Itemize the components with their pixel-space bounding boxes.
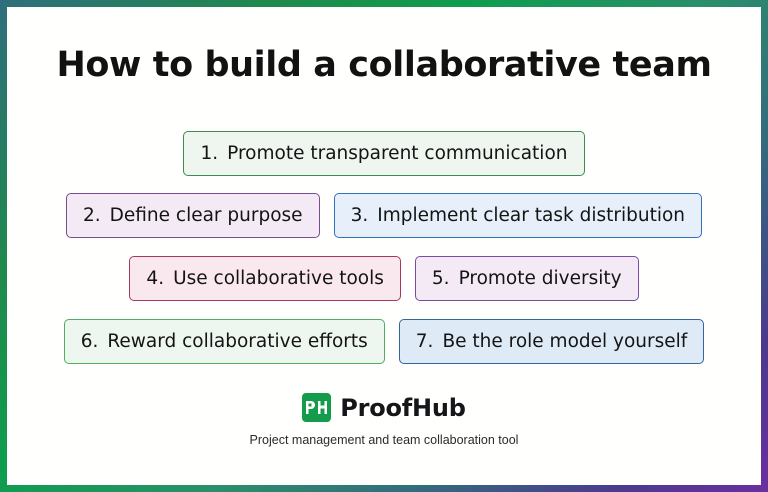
step-item-1[interactable]: 1. Promote transparent communication [183,131,584,176]
step-item-5[interactable]: 5. Promote diversity [415,256,639,301]
brand-footer: ProofHub Project management and team col… [7,393,761,447]
step-row-2: 2. Define clear purpose 3. Implement cle… [7,193,761,238]
page-title: How to build a collaborative team [7,45,761,85]
infographic-canvas: How to build a collaborative team 1. Pro… [7,7,761,485]
brand-name: ProofHub [340,394,466,422]
step-number-4: 4. [146,268,164,289]
brand-lockup[interactable]: ProofHub [302,393,466,422]
proofhub-ph-logo-icon [302,393,331,422]
step-number-3: 3. [351,205,369,226]
step-label-2: Define clear purpose [110,205,303,226]
infographic-gradient-frame: How to build a collaborative team 1. Pro… [0,0,768,492]
step-number-1: 1. [200,143,218,164]
step-number-6: 6. [81,331,99,352]
step-item-4[interactable]: 4. Use collaborative tools [129,256,400,301]
step-label-4: Use collaborative tools [173,268,384,289]
step-row-4: 6. Reward collaborative efforts 7. Be th… [7,319,761,364]
step-label-1: Promote transparent communication [227,143,567,164]
step-label-6: Reward collaborative efforts [107,331,367,352]
step-item-2[interactable]: 2. Define clear purpose [66,193,320,238]
step-item-7[interactable]: 7. Be the role model yourself [399,319,705,364]
brand-tagline: Project management and team collaboratio… [7,433,761,447]
step-row-1: 1. Promote transparent communication [7,131,761,176]
step-label-7: Be the role model yourself [442,331,687,352]
step-number-5: 5. [432,268,450,289]
step-item-6[interactable]: 6. Reward collaborative efforts [64,319,385,364]
step-label-3: Implement clear task distribution [377,205,685,226]
step-number-7: 7. [416,331,434,352]
step-row-3: 4. Use collaborative tools 5. Promote di… [7,256,761,301]
step-number-2: 2. [83,205,101,226]
step-item-3[interactable]: 3. Implement clear task distribution [334,193,702,238]
step-label-5: Promote diversity [459,268,622,289]
